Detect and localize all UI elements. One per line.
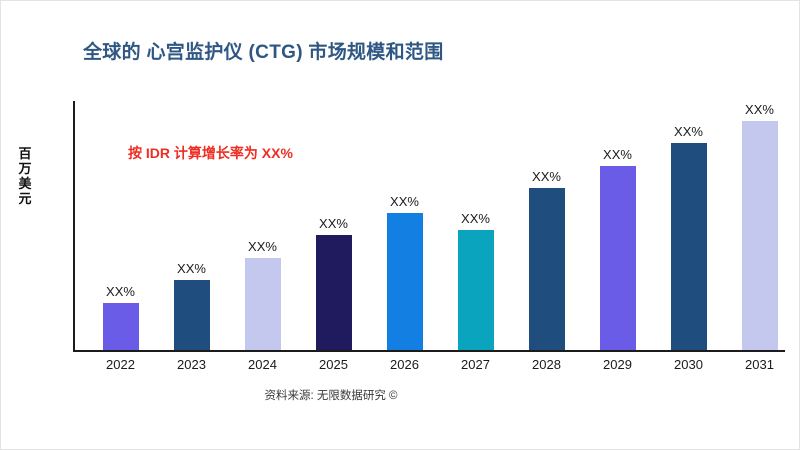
bar[interactable] xyxy=(671,143,707,350)
bar-slot: XX% xyxy=(653,101,724,350)
page-title: 全球的 心宫监护仪 (CTG) 市场规模和范围 xyxy=(83,37,444,64)
bar-value-label: XX% xyxy=(319,216,348,231)
x-axis-tick-2030: 2030 xyxy=(653,357,724,372)
bar[interactable] xyxy=(600,166,636,350)
bar[interactable] xyxy=(245,258,281,350)
bar-value-label: XX% xyxy=(674,124,703,139)
bar-value-label: XX% xyxy=(532,169,561,184)
bar-value-label: XX% xyxy=(603,147,632,162)
plot-area: XX%XX%XX%XX%XX%XX%XX%XX%XX%XX% xyxy=(73,101,785,351)
x-axis-tick-2024: 2024 xyxy=(227,357,298,372)
source-note: 资料来源: 无限数据研究 © xyxy=(1,387,661,403)
bar-slot: XX% xyxy=(511,101,582,350)
x-axis-tick-labels: 2022202320242025202620272028202920302031 xyxy=(73,357,785,377)
bar-slot: XX% xyxy=(369,101,440,350)
growth-rate-annotation: 按 IDR 计算增长率为 XX% xyxy=(128,143,293,163)
x-axis-tick-2026: 2026 xyxy=(369,357,440,372)
bar-value-label: XX% xyxy=(745,102,774,117)
bar[interactable] xyxy=(316,235,352,350)
x-axis-tick-2022: 2022 xyxy=(85,357,156,372)
bar-slot: XX% xyxy=(227,101,298,350)
x-axis-tick-2028: 2028 xyxy=(511,357,582,372)
bar-value-label: XX% xyxy=(390,194,419,209)
chart-page: 全球的 心宫监护仪 (CTG) 市场规模和范围 百万美元 XX%XX%XX%XX… xyxy=(0,0,800,450)
bar[interactable] xyxy=(742,121,778,350)
x-axis-tick-2031: 2031 xyxy=(724,357,795,372)
x-axis-tick-2027: 2027 xyxy=(440,357,511,372)
bar[interactable] xyxy=(458,230,494,350)
bar-slot: XX% xyxy=(582,101,653,350)
bar-value-label: XX% xyxy=(177,261,206,276)
bar-slot: XX% xyxy=(724,101,795,350)
bar-value-label: XX% xyxy=(106,284,135,299)
bar-slot: XX% xyxy=(298,101,369,350)
bar-slot: XX% xyxy=(440,101,511,350)
bar-slot: XX% xyxy=(85,101,156,350)
bar-value-label: XX% xyxy=(248,239,277,254)
x-axis-tick-2025: 2025 xyxy=(298,357,369,372)
bar[interactable] xyxy=(103,303,139,350)
bar-value-label: XX% xyxy=(461,211,490,226)
bar-series: XX%XX%XX%XX%XX%XX%XX%XX%XX%XX% xyxy=(73,101,785,351)
bar[interactable] xyxy=(529,188,565,350)
bar[interactable] xyxy=(174,280,210,350)
bar-slot: XX% xyxy=(156,101,227,350)
x-axis-tick-2023: 2023 xyxy=(156,357,227,372)
bar[interactable] xyxy=(387,213,423,350)
y-axis-title: 百万美元 xyxy=(14,146,36,206)
x-axis-tick-2029: 2029 xyxy=(582,357,653,372)
